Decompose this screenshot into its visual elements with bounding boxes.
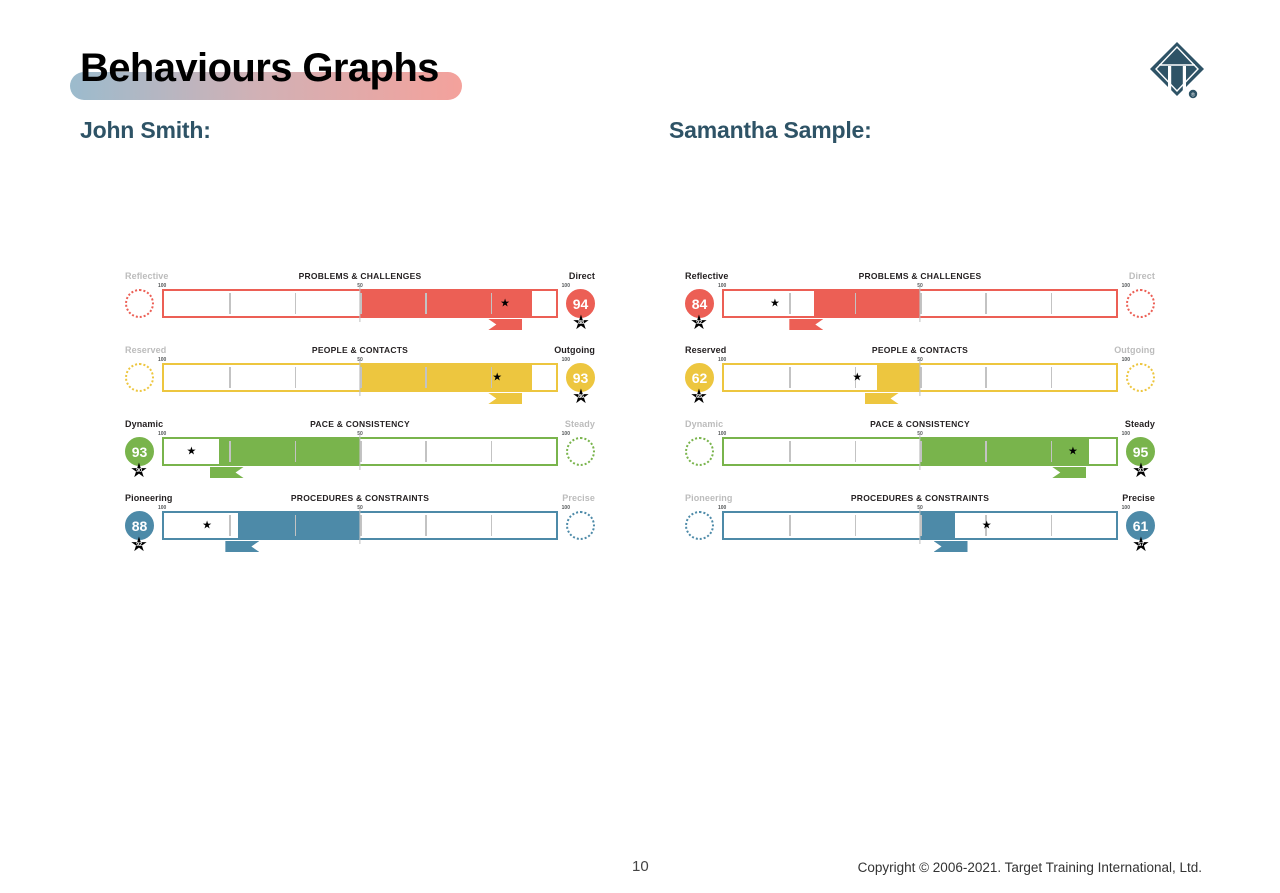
bar-segment-divider [425, 515, 427, 536]
natural-style-pointer-icon [865, 393, 899, 404]
bar-midpoint-tick [359, 285, 360, 322]
natural-style-pointer-icon [210, 467, 244, 478]
bar-segment-divider [491, 293, 493, 314]
factor-title: PACE & CONSISTENCY [310, 419, 410, 429]
natural-style-pointer-icon [1052, 467, 1086, 478]
adapted-style-star-icon: ★ [500, 298, 510, 309]
score-circle-left [125, 289, 154, 318]
scale-tick-right: 100 [1122, 431, 1130, 437]
natural-score-star-badge: ★92 [688, 312, 710, 333]
factor-bar-fill [360, 365, 532, 390]
factor-row-pace-consistency: DynamicPACE & CONSISTENCYSteady10050100★… [680, 416, 1160, 490]
bar-segment-divider [985, 367, 987, 388]
factor-bar-fill [877, 365, 920, 390]
factor-row-problems-challenges: ReflectivePROBLEMS & CHALLENGESDirect100… [120, 268, 600, 342]
natural-score-star-badge: ★65 [688, 386, 710, 407]
factor-bar-fill [920, 513, 955, 538]
copyright-notice: Copyright © 2006-2021. Target Training I… [858, 860, 1202, 875]
scale-tick-right: 100 [562, 505, 570, 511]
person-name-john-smith: John Smith: [80, 117, 211, 144]
natural-score-value: 92 [136, 542, 142, 548]
factor-bar-track: ★ [722, 511, 1118, 540]
factor-title: PROBLEMS & CHALLENGES [299, 271, 422, 281]
bar-midpoint-tick [919, 433, 920, 470]
bar-segment-divider [789, 367, 791, 388]
bar-segment-divider [789, 515, 791, 536]
scale-tick-right: 100 [1122, 505, 1130, 511]
score-circle-right [1126, 363, 1155, 392]
bar-midpoint-tick [919, 285, 920, 322]
factor-title: PACE & CONSISTENCY [870, 419, 970, 429]
bar-midpoint-tick [359, 359, 360, 396]
score-circle-left [125, 363, 154, 392]
natural-score-value: 88 [578, 320, 584, 326]
natural-score-star-badge: ★86 [570, 386, 592, 407]
factor-bar-track: ★ [722, 363, 1118, 392]
adapted-style-star-icon: ★ [852, 372, 862, 383]
score-circle-left [685, 437, 714, 466]
factor-row-problems-challenges: ReflectivePROBLEMS & CHALLENGESDirect100… [680, 268, 1160, 342]
factor-bar-track: ★ [722, 437, 1118, 466]
natural-score-star-badge: ★88 [570, 312, 592, 333]
factor-row-procedures-constraints: PioneeringPROCEDURES & CONSTRAINTSPrecis… [680, 490, 1160, 564]
natural-score-star-badge: ★92 [128, 534, 150, 555]
natural-style-pointer-icon [789, 319, 823, 330]
bar-segment-divider [789, 441, 791, 462]
score-circle-right [566, 437, 595, 466]
bar-midpoint-tick [359, 507, 360, 544]
natural-style-pointer-icon [488, 319, 522, 330]
factor-bar-track: ★ [162, 437, 558, 466]
bar-segment-divider [229, 293, 231, 314]
natural-score-value: 86 [578, 394, 584, 400]
factor-bar-track: ★ [162, 363, 558, 392]
bar-midpoint-tick [919, 359, 920, 396]
adapted-style-star-icon: ★ [770, 298, 780, 309]
scale-tick-right: 100 [562, 357, 570, 363]
natural-style-pointer-icon [934, 541, 968, 552]
page-title: Behaviours Graphs [80, 40, 439, 96]
bar-midpoint-tick [919, 507, 920, 544]
factor-row-people-contacts: ReservedPEOPLE & CONTACTSOutgoing1005010… [680, 342, 1160, 416]
factor-left-label: Dynamic [125, 419, 163, 429]
natural-score-value: 93 [1138, 468, 1144, 474]
bar-segment-divider [985, 293, 987, 314]
bar-segment-divider [985, 441, 987, 462]
behaviour-graph-column-john-smith: ReflectivePROBLEMS & CHALLENGESDirect100… [120, 268, 600, 568]
bar-midpoint-tick [359, 433, 360, 470]
bar-segment-divider [425, 367, 427, 388]
factor-right-label: Precise [1122, 493, 1155, 503]
bar-segment-divider [855, 293, 857, 314]
bar-segment-divider [789, 293, 791, 314]
score-circle-right [1126, 289, 1155, 318]
factor-title: PEOPLE & CONTACTS [312, 345, 408, 355]
bar-segment-divider [295, 367, 297, 388]
natural-score-value: 92 [696, 320, 702, 326]
bar-segment-divider [295, 441, 297, 462]
score-circle-left [685, 511, 714, 540]
bar-segment-divider [1051, 293, 1053, 314]
factor-bar-fill [238, 513, 360, 538]
natural-score-value: 65 [696, 394, 702, 400]
factor-bar-track: ★ [162, 511, 558, 540]
scale-tick-right: 100 [1122, 283, 1130, 289]
natural-score-star-badge: ★90 [128, 460, 150, 481]
natural-style-pointer-icon [488, 393, 522, 404]
natural-score-value: 57 [1138, 542, 1144, 548]
factor-right-label: Direct [569, 271, 595, 281]
factor-right-label: Outgoing [1114, 345, 1155, 355]
person-name-samantha-sample: Samantha Sample: [669, 117, 872, 144]
factor-title: PEOPLE & CONTACTS [872, 345, 968, 355]
factor-left-label: Reflective [685, 271, 729, 281]
factor-left-label: Reserved [685, 345, 726, 355]
adapted-style-star-icon: ★ [982, 520, 992, 531]
factor-bar-fill [814, 291, 920, 316]
factor-title: PROBLEMS & CHALLENGES [859, 271, 982, 281]
bar-segment-divider [229, 515, 231, 536]
factor-left-label: Dynamic [685, 419, 723, 429]
factor-title: PROCEDURES & CONSTRAINTS [291, 493, 429, 503]
bar-segment-divider [229, 367, 231, 388]
factor-right-label: Outgoing [554, 345, 595, 355]
factor-left-label: Reserved [125, 345, 166, 355]
bar-segment-divider [1051, 367, 1053, 388]
factor-left-label: Pioneering [125, 493, 173, 503]
scale-tick-right: 100 [562, 431, 570, 437]
adapted-style-star-icon: ★ [1068, 446, 1078, 457]
score-circle-right [566, 511, 595, 540]
factor-right-label: Steady [1125, 419, 1155, 429]
bar-segment-divider [1051, 441, 1053, 462]
factor-left-label: Pioneering [685, 493, 733, 503]
factor-row-pace-consistency: DynamicPACE & CONSISTENCYSteady10050100★… [120, 416, 600, 490]
factor-right-label: Direct [1129, 271, 1155, 281]
bar-segment-divider [855, 441, 857, 462]
factor-bar-track: ★ [722, 289, 1118, 318]
tti-diamond-logo-icon: ® [1146, 38, 1208, 104]
bar-segment-divider [855, 515, 857, 536]
scale-tick-right: 100 [1122, 357, 1130, 363]
factor-right-label: Steady [565, 419, 595, 429]
svg-text:®: ® [1191, 91, 1195, 98]
factor-right-label: Precise [562, 493, 595, 503]
bar-segment-divider [295, 515, 297, 536]
factor-bar-fill [920, 439, 1089, 464]
natural-score-value: 90 [136, 468, 142, 474]
adapted-style-star-icon: ★ [202, 520, 212, 531]
factor-row-people-contacts: ReservedPEOPLE & CONTACTSOutgoing1005010… [120, 342, 600, 416]
bar-segment-divider [425, 441, 427, 462]
bar-segment-divider [491, 515, 493, 536]
bar-segment-divider [491, 441, 493, 462]
factor-bar-track: ★ [162, 289, 558, 318]
bar-segment-divider [295, 293, 297, 314]
behaviour-graph-column-samantha-sample: ReflectivePROBLEMS & CHALLENGESDirect100… [680, 268, 1160, 568]
bar-segment-divider [1051, 515, 1053, 536]
page-number: 10 [632, 858, 649, 875]
natural-score-star-badge: ★93 [1130, 460, 1152, 481]
bar-segment-divider [229, 441, 231, 462]
factor-row-procedures-constraints: PioneeringPROCEDURES & CONSTRAINTSPrecis… [120, 490, 600, 564]
natural-style-pointer-icon [225, 541, 259, 552]
factor-left-label: Reflective [125, 271, 169, 281]
adapted-style-star-icon: ★ [187, 446, 197, 457]
bar-segment-divider [425, 293, 427, 314]
factor-bar-fill [219, 439, 360, 464]
page-header: Behaviours Graphs [70, 40, 770, 102]
adapted-style-star-icon: ★ [492, 372, 502, 383]
factor-title: PROCEDURES & CONSTRAINTS [851, 493, 989, 503]
scale-tick-right: 100 [562, 283, 570, 289]
natural-score-star-badge: ★57 [1130, 534, 1152, 555]
